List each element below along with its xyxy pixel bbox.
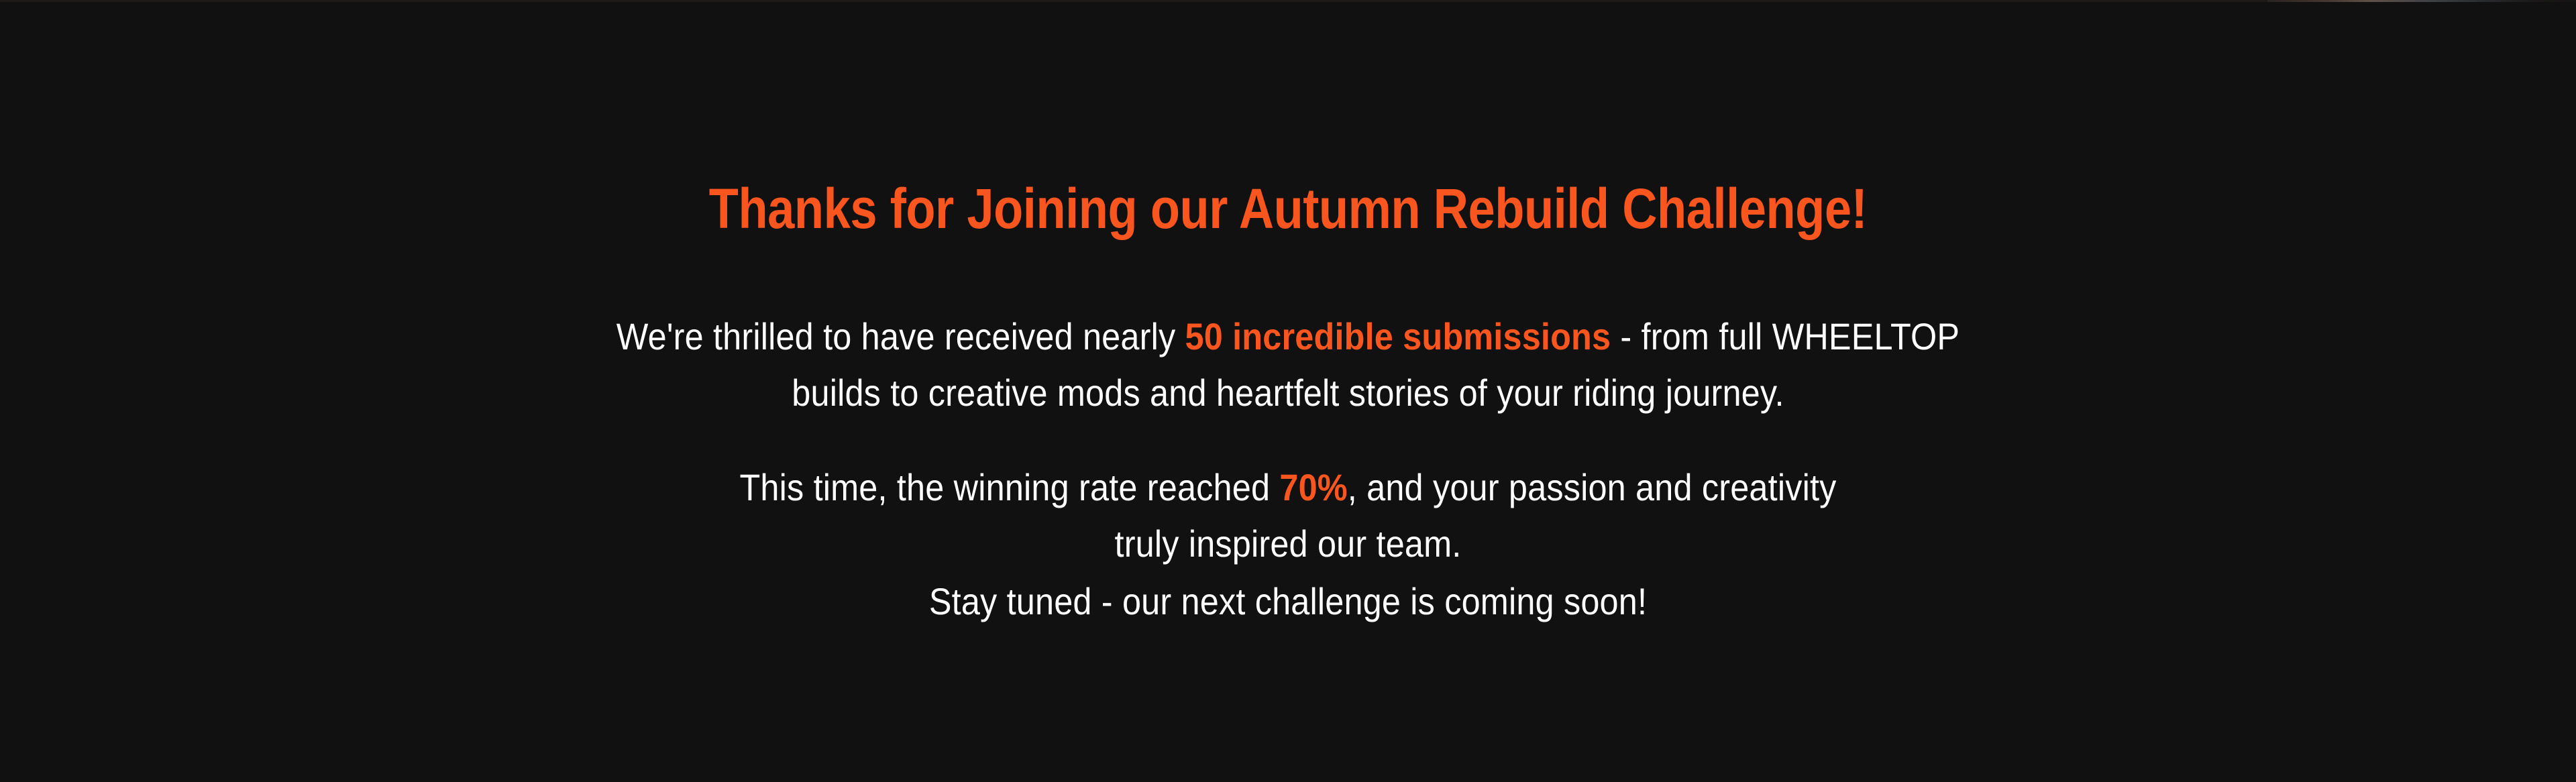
text-segment: We're thrilled to have received nearly [616,315,1185,357]
paragraph-line: Stay tuned - our next challenge is comin… [129,573,2447,630]
paragraph-submissions: We're thrilled to have received nearly 5… [129,309,2447,421]
accent-winning-rate: 70% [1279,466,1347,508]
paragraph-line: We're thrilled to have received nearly 5… [129,309,2447,365]
text-segment: This time, the winning rate reached [739,466,1279,508]
text-segment: builds to creative mods and heartfelt st… [792,372,1784,414]
top-edge-divider [0,0,2576,2]
paragraph-line: builds to creative mods and heartfelt st… [129,365,2447,421]
text-segment: Stay tuned - our next challenge is comin… [929,580,1647,622]
paragraph-winning-rate: This time, the winning rate reached 70%,… [129,459,2447,572]
page-title: Thanks for Joining our Autumn Rebuild Ch… [180,180,2396,238]
top-edge-image-remnant [2267,0,2576,2]
accent-submissions-count: 50 incredible submissions [1185,315,1611,357]
text-segment: truly inspired our team. [1115,522,1462,565]
text-segment: , and your passion and creativity [1348,466,1837,508]
text-segment: - from full WHEELTOP [1611,315,1960,357]
paragraph-line: truly inspired our team. [129,516,2447,572]
paragraph-stay-tuned: Stay tuned - our next challenge is comin… [129,573,2447,630]
announcement-banner: Thanks for Joining our Autumn Rebuild Ch… [0,0,2576,782]
paragraph-line: This time, the winning rate reached 70%,… [129,459,2447,516]
